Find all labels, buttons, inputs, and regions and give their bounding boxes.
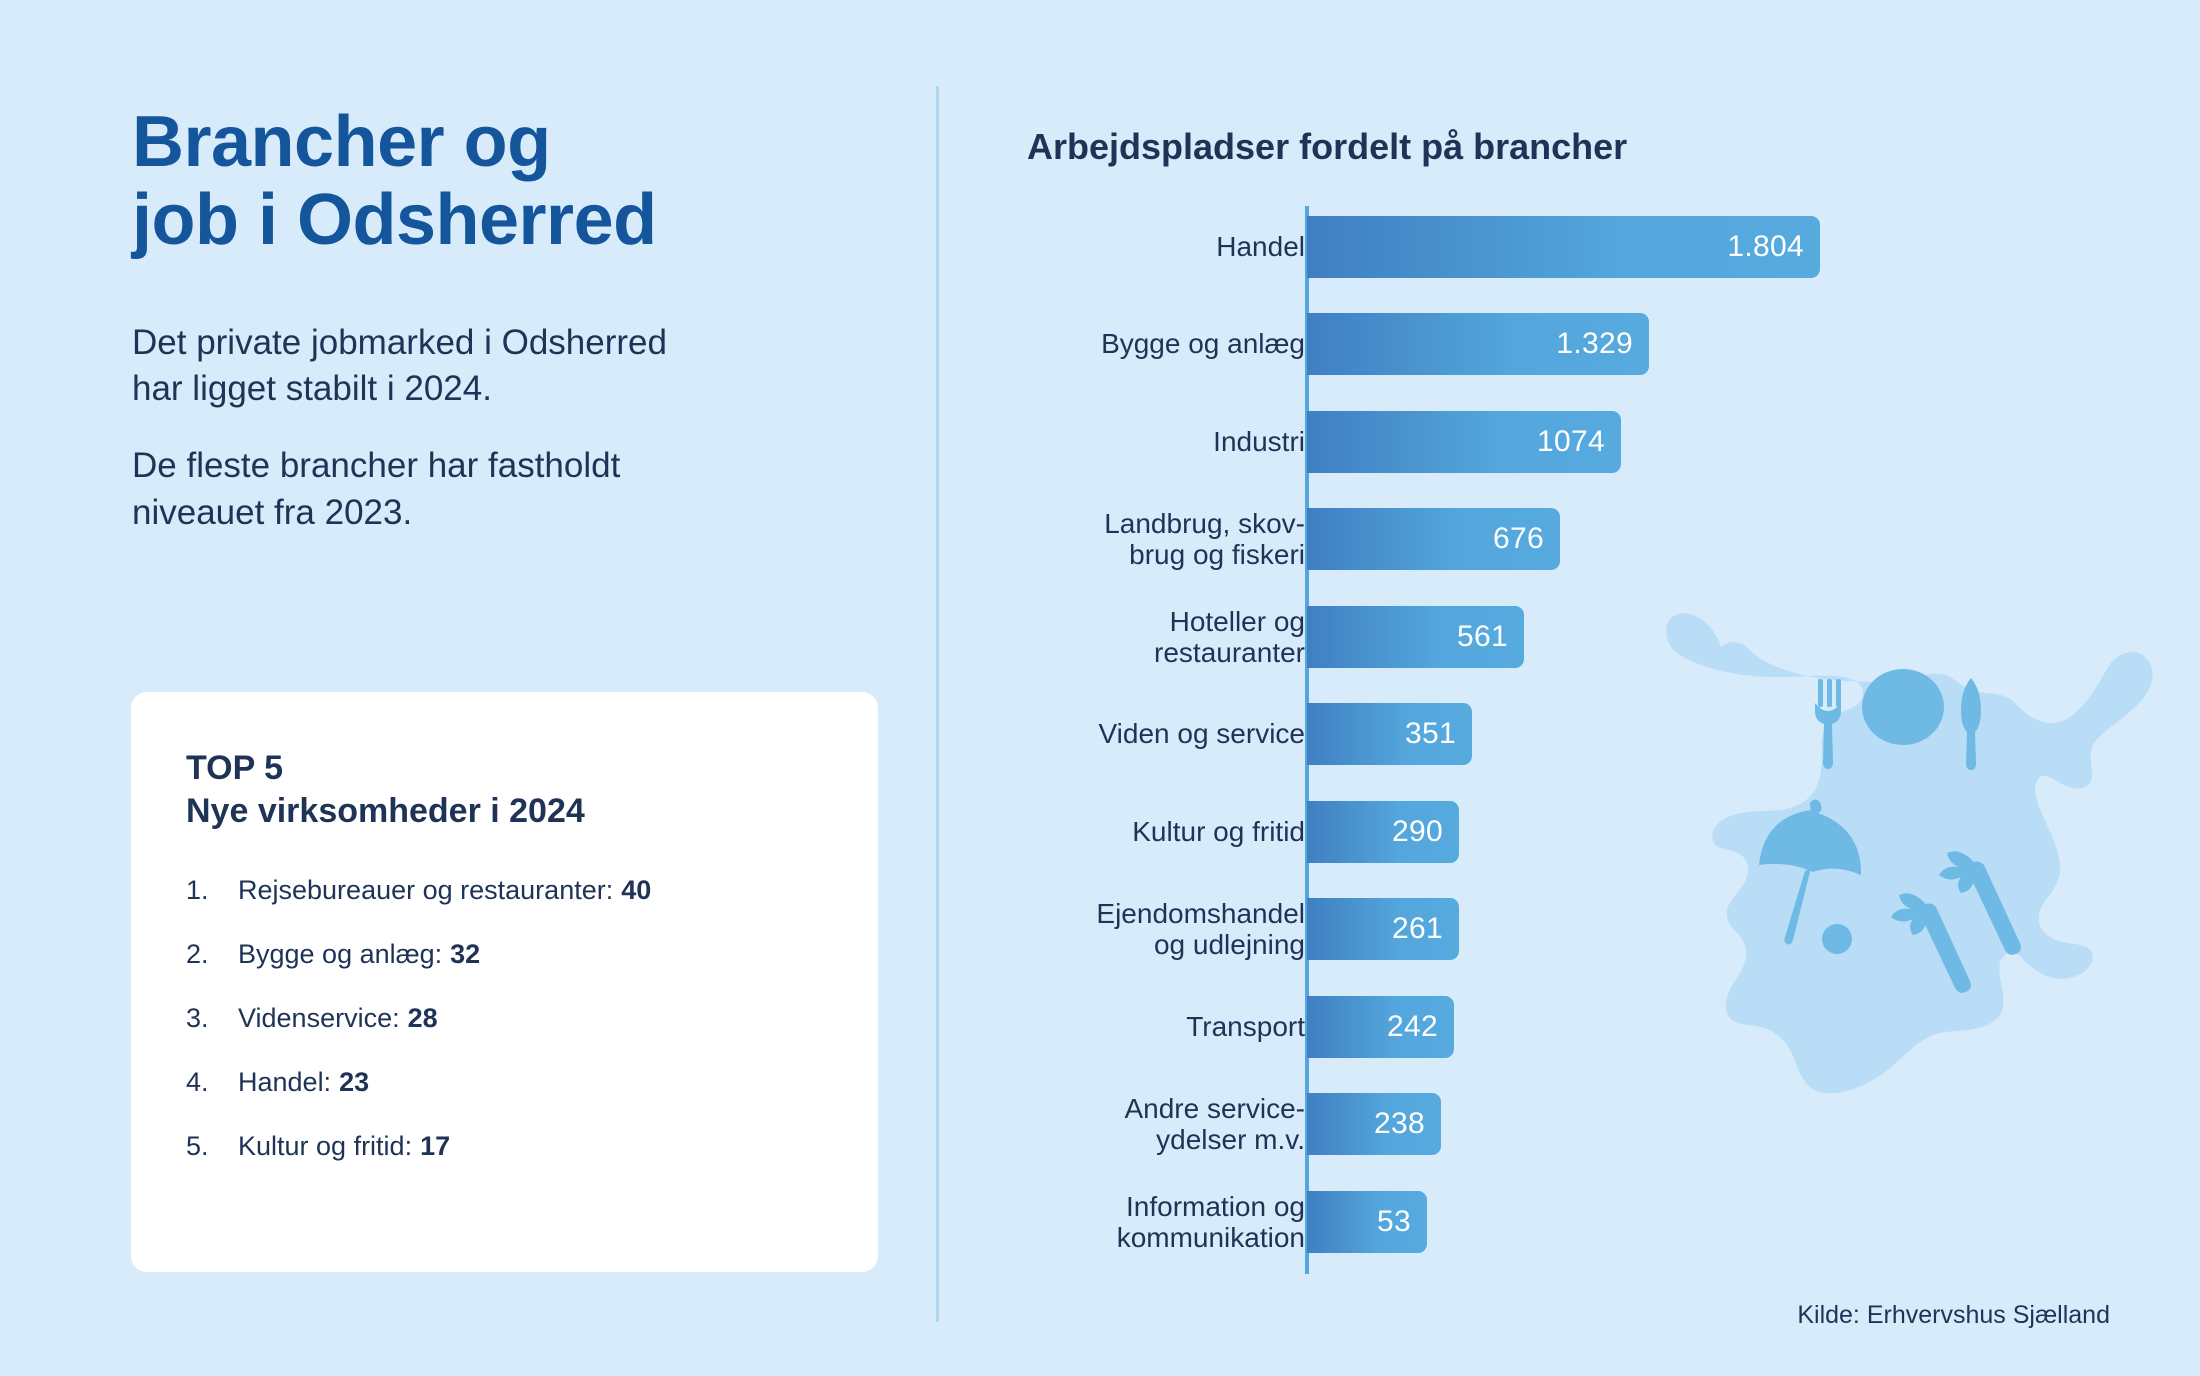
bar-value-label: 676: [1493, 508, 1544, 570]
bar-track: 242: [1307, 996, 1454, 1058]
bar-category-label: Bygge og anlæg: [985, 313, 1305, 375]
bar-track: 1074: [1307, 411, 1621, 473]
bar-track: 351: [1307, 703, 1472, 765]
list-item-number: 2.: [186, 939, 238, 970]
bar-track: 290: [1307, 801, 1459, 863]
bar-category-label: Landbrug, skov- brug og fiskeri: [985, 508, 1305, 570]
bar-value-label: 1074: [1537, 411, 1605, 473]
source-attribution: Kilde: Erhvervshus Sjælland: [1797, 1301, 2110, 1330]
bar-value-label: 261: [1392, 898, 1443, 960]
bar-fill: 561: [1307, 606, 1524, 668]
top5-card: TOP 5 Nye virksomheder i 2024 1. Rejsebu…: [131, 692, 878, 1272]
bar-track: 561: [1307, 606, 1524, 668]
bar-track: 261: [1307, 898, 1459, 960]
list-item-label: Handel:: [238, 1067, 331, 1098]
bar-fill: 1.804: [1307, 216, 1820, 278]
bar-category-label: Andre service- ydelser m.v.: [985, 1093, 1305, 1155]
bar-category-label: Kultur og fritid: [985, 801, 1305, 863]
bar-category-label: Industri: [985, 411, 1305, 473]
list-item-number: 1.: [186, 875, 238, 906]
bar-row: Andre service- ydelser m.v.238: [1000, 1093, 2100, 1155]
bar-value-label: 1.329: [1556, 313, 1633, 375]
left-column: Brancher og job i Odsherred Det private …: [132, 104, 902, 537]
list-item: 4. Handel: 23: [186, 1067, 826, 1098]
bar-row: Hoteller og restauranter561: [1000, 606, 2100, 668]
list-item: 5. Kultur og fritid: 17: [186, 1131, 826, 1162]
list-item-label: Videnservice:: [238, 1003, 400, 1034]
bar-category-label: Hoteller og restauranter: [985, 606, 1305, 668]
bar-fill: 676: [1307, 508, 1560, 570]
bar-track: 1.804: [1307, 216, 1820, 278]
bar-fill: 261: [1307, 898, 1459, 960]
bar-track: 676: [1307, 508, 1560, 570]
bar-row: Ejendomshandel og udlejning261: [1000, 898, 2100, 960]
intro-paragraph-2: De fleste brancher har fastholdt niveaue…: [132, 443, 902, 537]
bar-category-label: Ejendomshandel og udlejning: [985, 898, 1305, 960]
bar-chart: Handel1.804Bygge og anlæg1.329Industri10…: [1000, 206, 2100, 1276]
list-item-label: Kultur og fritid:: [238, 1131, 412, 1162]
bar-row: Handel1.804: [1000, 216, 2100, 278]
list-item-number: 4.: [186, 1067, 238, 1098]
list-item: 1. Rejsebureauer og restauranter: 40: [186, 875, 826, 906]
bar-value-label: 561: [1457, 606, 1508, 668]
bar-fill: 351: [1307, 703, 1472, 765]
infographic-page: Brancher og job i Odsherred Det private …: [0, 0, 2200, 1376]
bar-row: Transport242: [1000, 996, 2100, 1058]
bar-row: Information og kommunikation53: [1000, 1191, 2100, 1253]
bar-track: 238: [1307, 1093, 1441, 1155]
list-item-value: 28: [408, 1003, 438, 1034]
bar-category-label: Information og kommunikation: [985, 1191, 1305, 1253]
page-title: Brancher og job i Odsherred: [132, 104, 902, 260]
bar-category-label: Transport: [985, 996, 1305, 1058]
bar-value-label: 1.804: [1727, 216, 1804, 278]
list-item-value: 32: [450, 939, 480, 970]
bar-row: Viden og service351: [1000, 703, 2100, 765]
list-item-label: Rejsebureauer og restauranter:: [238, 875, 613, 906]
bar-value-label: 242: [1387, 996, 1438, 1058]
bar-value-label: 290: [1392, 801, 1443, 863]
top5-card-body: TOP 5 Nye virksomheder i 2024 1. Rejsebu…: [131, 692, 878, 1162]
list-item-label: Bygge og anlæg:: [238, 939, 442, 970]
bar-category-label: Viden og service: [985, 703, 1305, 765]
list-item-value: 17: [420, 1131, 450, 1162]
list-item: 3. Videnservice: 28: [186, 1003, 826, 1034]
bar-fill: 1.329: [1307, 313, 1649, 375]
list-item-value: 40: [621, 875, 651, 906]
top5-heading: TOP 5 Nye virksomheder i 2024: [186, 747, 826, 833]
bar-track: 1.329: [1307, 313, 1649, 375]
bar-fill: 53: [1307, 1191, 1427, 1253]
bar-row: Industri1074: [1000, 411, 2100, 473]
column-divider: [936, 86, 939, 1322]
bar-category-label: Handel: [985, 216, 1305, 278]
bar-fill: 238: [1307, 1093, 1441, 1155]
bar-value-label: 351: [1405, 703, 1456, 765]
bar-row: Bygge og anlæg1.329: [1000, 313, 2100, 375]
top5-list: 1. Rejsebureauer og restauranter: 40 2. …: [186, 875, 826, 1162]
list-item-value: 23: [339, 1067, 369, 1098]
intro-paragraph-1: Det private jobmarked i Odsherred har li…: [132, 320, 902, 414]
chart-title: Arbejdspladser fordelt på brancher: [1027, 126, 1627, 168]
bar-row: Kultur og fritid290: [1000, 801, 2100, 863]
bar-row: Landbrug, skov- brug og fiskeri676: [1000, 508, 2100, 570]
list-item-number: 3.: [186, 1003, 238, 1034]
bar-value-label: 53: [1377, 1191, 1411, 1253]
intro-text-block: Det private jobmarked i Odsherred har li…: [132, 320, 902, 538]
bar-fill: 290: [1307, 801, 1459, 863]
list-item: 2. Bygge og anlæg: 32: [186, 939, 826, 970]
list-item-number: 5.: [186, 1131, 238, 1162]
bar-fill: 242: [1307, 996, 1454, 1058]
bar-track: 53: [1307, 1191, 1427, 1253]
bar-value-label: 238: [1374, 1093, 1425, 1155]
bar-fill: 1074: [1307, 411, 1621, 473]
